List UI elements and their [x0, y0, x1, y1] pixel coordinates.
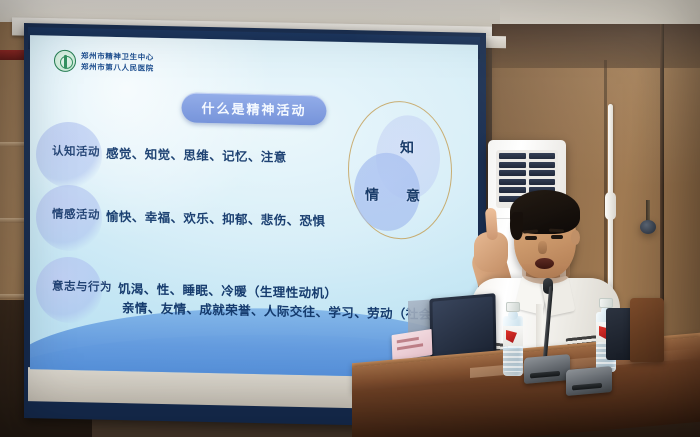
venn-diagram: 知 情 意: [348, 100, 452, 240]
venn-label-qing: 情: [365, 184, 380, 204]
hospital-logo: 郑州市精神卫生中心 郑州市第八人民医院: [54, 50, 154, 74]
venn-label-zhi: 知: [400, 137, 415, 157]
logo-line-2: 郑州市第八人民医院: [81, 62, 154, 73]
presenter-ear: [571, 230, 580, 245]
hospital-emblem-icon: [54, 50, 76, 72]
row-items-text: 感觉、知觉、思维、记忆、注意: [106, 145, 287, 168]
presenter-index-finger: [485, 208, 498, 241]
logo-line-1: 郑州市精神卫生中心: [81, 51, 154, 62]
row-items-line-1: 饥渴、性、睡眠、冷暖（生理性动机）: [118, 282, 337, 301]
venn-label-yi: 意: [406, 185, 421, 205]
microphone-base[interactable]: [524, 354, 570, 384]
presenter-eye-left: [525, 236, 537, 240]
hospital-logo-text: 郑州市精神卫生中心 郑州市第八人民医院: [81, 51, 154, 72]
row-items-text: 愉快、幸福、欢乐、抑郁、悲伤、恐惧: [106, 208, 325, 232]
chair-backrest: [630, 298, 664, 362]
presenter-nose: [538, 241, 547, 254]
presenter-mouth: [535, 258, 554, 269]
water-bottle: [503, 302, 523, 376]
row-category-label: 认知活动: [52, 144, 100, 162]
screenshot-root: 郑州市精神卫生中心 郑州市第八人民医院 什么是精神活动 认知活动 感觉、知觉、思…: [0, 0, 700, 437]
row-category-label: 意志与行为: [52, 278, 112, 297]
microphone-base[interactable]: [566, 366, 612, 396]
presenter-eye-right: [551, 235, 563, 239]
row-category-label: 情感活动: [52, 207, 100, 225]
sprinkler-fixture-icon: [640, 200, 656, 238]
right-wall-upper-shadow: [492, 24, 700, 68]
presenter-hair-side: [510, 212, 523, 240]
slide-title: 什么是精神活动: [181, 92, 326, 125]
